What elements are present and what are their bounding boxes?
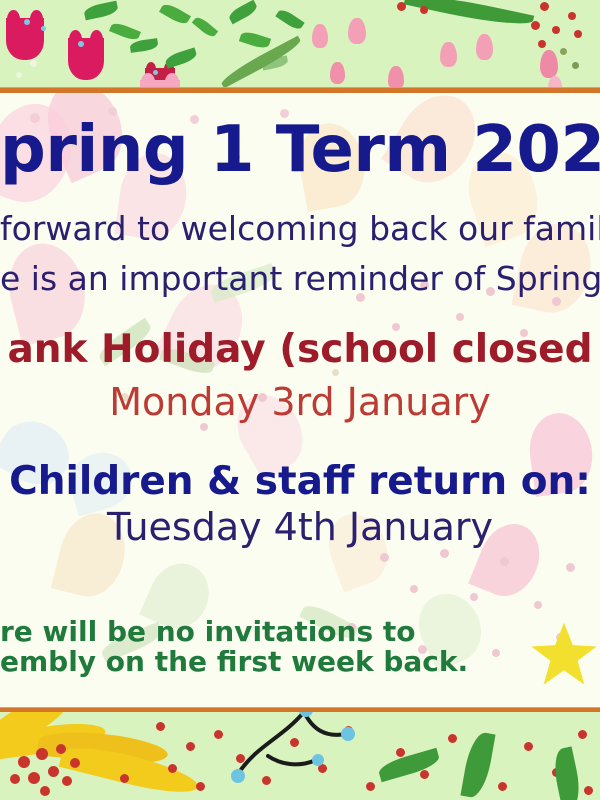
- leaf-icon: [377, 748, 442, 782]
- berry-icon: [36, 748, 48, 760]
- berry-icon: [28, 772, 40, 784]
- confetti-dot: [200, 423, 208, 431]
- berry-icon: [10, 774, 20, 784]
- bank-holiday-date: Monday 3rd January: [0, 383, 600, 421]
- berry-icon: [498, 782, 507, 791]
- berry-icon: [538, 40, 546, 48]
- berry-icon: [572, 62, 579, 69]
- leaf-icon: [129, 38, 158, 53]
- bottom-floral-band: [0, 712, 600, 800]
- confetti-dot: [500, 557, 509, 566]
- branch-with-buds-icon: [228, 712, 368, 784]
- berry-icon: [120, 774, 129, 783]
- bell-flower-icon: [476, 34, 493, 60]
- leaf-icon: [192, 15, 218, 39]
- berry-icon: [156, 722, 165, 731]
- berry-icon: [70, 758, 80, 768]
- leaf-icon: [239, 30, 271, 51]
- berry-icon: [568, 12, 576, 20]
- berry-icon: [196, 782, 205, 791]
- assembly-note-line-1: re will be no invitations to: [0, 618, 600, 646]
- leaf-icon: [460, 730, 495, 799]
- leaf-icon: [275, 7, 304, 32]
- bud-dot-icon: [41, 26, 46, 31]
- bell-flower-icon: [312, 24, 328, 48]
- intro-line-1: forward to welcoming back our families: [0, 212, 600, 245]
- berry-icon: [584, 786, 593, 795]
- confetti-dot: [470, 593, 478, 601]
- berry-icon: [524, 742, 533, 751]
- tulip-icon: [68, 38, 104, 80]
- return-heading: Children & staff return on:: [0, 462, 600, 501]
- bank-holiday-heading: ank Holiday (school closed: [0, 330, 600, 369]
- berry-icon: [186, 742, 195, 751]
- bell-flower-icon: [330, 62, 345, 84]
- bell-flower-icon: [540, 50, 558, 78]
- berry-icon: [48, 766, 59, 777]
- berry-icon: [540, 2, 549, 11]
- berry-icon: [448, 734, 457, 743]
- berry-icon: [56, 744, 66, 754]
- confetti-dot: [566, 563, 575, 572]
- confetti-dot: [534, 601, 542, 609]
- bud-dot-icon: [78, 41, 84, 47]
- leaf-icon: [164, 47, 198, 68]
- berry-icon: [214, 730, 223, 739]
- berry-icon: [560, 48, 567, 55]
- berry-icon: [552, 26, 560, 34]
- leaf-icon: [159, 1, 191, 26]
- berry-icon: [420, 770, 429, 779]
- berry-icon: [168, 764, 177, 773]
- confetti-dot: [440, 549, 449, 558]
- confetti-dot: [380, 553, 389, 562]
- grass-blade-icon: [404, 0, 534, 31]
- leaf-icon: [550, 746, 584, 800]
- return-date: Tuesday 4th January: [0, 508, 600, 546]
- leaf-icon: [227, 0, 259, 24]
- intro-line-2: e is an important reminder of Spring Ter: [0, 262, 600, 295]
- leaf-icon: [83, 1, 119, 21]
- confetti-dot: [456, 313, 464, 321]
- berry-icon: [574, 30, 582, 38]
- page-title: pring 1 Term 202: [0, 118, 600, 182]
- berry-icon: [62, 776, 72, 786]
- top-floral-band: [0, 0, 600, 90]
- poster-canvas: pring 1 Term 202 forward to welcoming ba…: [0, 0, 600, 800]
- berry-icon: [396, 748, 405, 757]
- berry-icon: [40, 786, 50, 796]
- bud-dot-icon: [24, 19, 30, 25]
- berry-icon: [531, 21, 540, 30]
- bell-flower-icon: [440, 42, 457, 67]
- confetti-dot: [410, 585, 418, 593]
- bell-flower-icon: [348, 18, 366, 44]
- confetti-dot: [552, 297, 561, 306]
- confetti-dot: [16, 72, 22, 78]
- berry-icon: [397, 2, 406, 11]
- leaf-icon: [109, 21, 141, 42]
- berry-icon: [578, 730, 587, 739]
- assembly-note-line-2: embly on the first week back.: [0, 648, 600, 676]
- berry-icon: [420, 6, 428, 14]
- bud-dot-icon: [153, 70, 158, 75]
- confetti-dot: [30, 60, 37, 67]
- berry-icon: [18, 756, 30, 768]
